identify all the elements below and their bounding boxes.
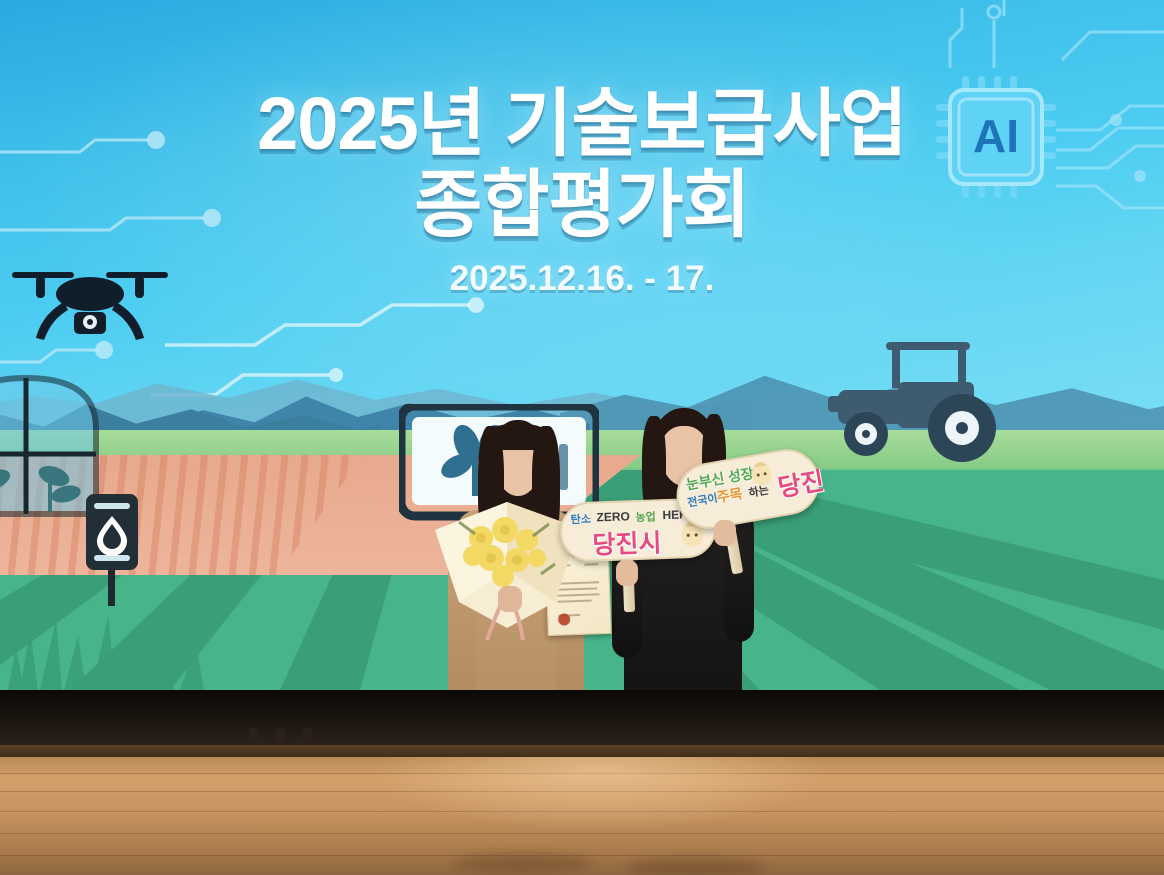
stage-back-wall xyxy=(0,690,1164,748)
water-sensor-icon xyxy=(84,494,140,606)
ceremony-photo: AI xyxy=(0,0,1164,875)
recipient-shadow xyxy=(452,854,592,872)
screen-title-block: 2025년 기술보급사업 종합평가회 2025.12.16. - 17. xyxy=(0,86,1164,299)
grass-icon xyxy=(0,590,300,690)
recipient-hand xyxy=(498,586,522,612)
placard-left-line2: 당진시 xyxy=(592,523,662,561)
title-line-1: 2025년 기술보급사업 xyxy=(0,86,1164,161)
presenter-hand-left xyxy=(616,560,638,586)
tractor-icon xyxy=(812,336,1044,464)
placard-left-line1-b: ZERO xyxy=(596,509,630,524)
title-line-2: 종합평가회 xyxy=(0,167,1164,242)
bouquet xyxy=(429,478,584,643)
placard-right-line2-b: 주목 xyxy=(715,483,744,507)
placard-left-line1-a: 탄소 xyxy=(570,511,591,528)
stage-spotlight xyxy=(330,757,870,875)
mascot-icon-2 xyxy=(747,458,775,488)
recipient-bangs xyxy=(488,424,548,450)
presenter-hand-right xyxy=(714,520,736,546)
event-date: 2025.12.16. - 17. xyxy=(0,259,1164,299)
presenter-shadow xyxy=(626,858,766,875)
